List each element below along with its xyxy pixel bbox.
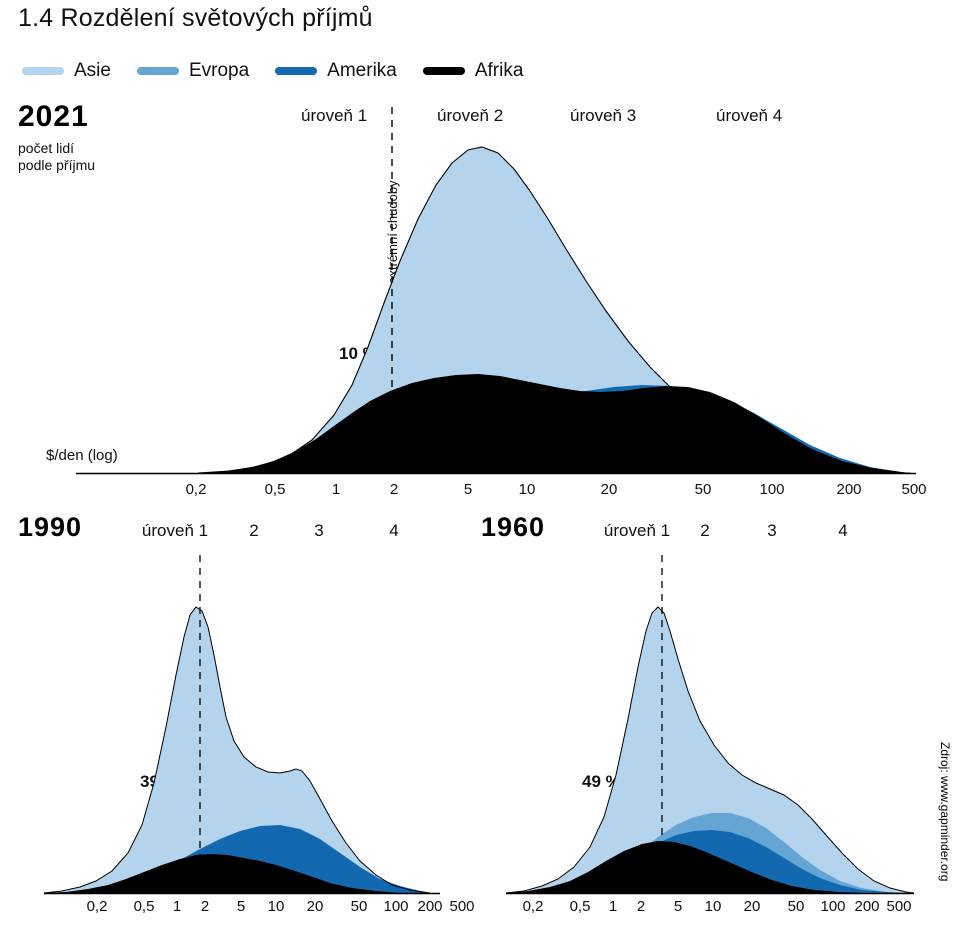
chart-1960-tick-7: 50: [788, 898, 805, 915]
chart-1990-tick-4: 5: [237, 898, 245, 915]
legend: Asie Evropa Amerika Afrika: [22, 60, 549, 82]
main-tick-9: 200: [836, 481, 861, 498]
main-tick-10: 500: [901, 481, 926, 498]
chart-1960-level-1: úroveň 1: [604, 521, 670, 541]
main-tick-1: 0,5: [265, 481, 286, 498]
legend-swatch-asie: [22, 67, 64, 75]
main-tick-0: 0,2: [186, 481, 207, 498]
chart-1990-tick-10: 500: [449, 898, 474, 915]
chart-1990-level-2: 2: [249, 521, 258, 541]
chart-1960-level-2: 2: [700, 521, 709, 541]
source-label: Zdroj: www.gapminder.org: [938, 742, 952, 881]
main-tick-5: 10: [519, 481, 536, 498]
chart-1960-level-4: 4: [838, 521, 847, 541]
chart-1960-tick-2: 1: [609, 898, 617, 915]
chart-1990-tick-5: 10: [268, 898, 285, 915]
chart-1990-tick-2: 1: [173, 898, 181, 915]
legend-label-afrika: Afrika: [475, 60, 524, 82]
chart-1960-tick-0: 0,2: [523, 898, 544, 915]
chart-1990-tick-3: 2: [201, 898, 209, 915]
legend-swatch-evropa: [137, 67, 179, 75]
page-title: 1.4 Rozdělení světových příjmů: [18, 4, 373, 33]
legend-label-asie: Asie: [74, 60, 111, 82]
main-tick-3: 2: [390, 481, 398, 498]
chart-1960-year: 1960: [481, 512, 545, 543]
legend-item-amerika: Amerika: [275, 60, 397, 82]
chart-1990-tick-9: 200: [417, 898, 442, 915]
chart-1990-tick-1: 0,5: [134, 898, 155, 915]
chart-1960-level-3: 3: [767, 521, 776, 541]
chart-1990-tick-8: 100: [383, 898, 408, 915]
main-tick-6: 20: [601, 481, 618, 498]
main-tick-2: 1: [332, 481, 340, 498]
chart-1960-tick-3: 2: [637, 898, 645, 915]
chart-1960-tick-6: 20: [744, 898, 761, 915]
chart-1960-tick-4: 5: [674, 898, 682, 915]
chart-1960-tick-8: 100: [820, 898, 845, 915]
legend-label-evropa: Evropa: [189, 60, 249, 82]
chart-1990-level-3: 3: [314, 521, 323, 541]
legend-swatch-afrika: [423, 67, 465, 75]
chart-1960-tick-10: 500: [886, 898, 911, 915]
chart-1960-tick-9: 200: [854, 898, 879, 915]
chart-1960: [462, 555, 932, 895]
legend-label-amerika: Amerika: [327, 60, 397, 82]
legend-item-evropa: Evropa: [137, 60, 249, 82]
chart-1990-tick-6: 20: [307, 898, 324, 915]
chart-2021: [0, 95, 980, 495]
chart-1990: [0, 555, 470, 895]
chart-1960-tick-1: 0,5: [570, 898, 591, 915]
chart-1990-level-4: 4: [389, 521, 398, 541]
chart-1990-level-1: úroveň 1: [142, 521, 208, 541]
legend-item-afrika: Afrika: [423, 60, 524, 82]
main-tick-4: 5: [464, 481, 472, 498]
chart-1990-year: 1990: [18, 512, 82, 543]
main-tick-8: 100: [759, 481, 784, 498]
legend-item-asie: Asie: [22, 60, 111, 82]
legend-swatch-amerika: [275, 67, 317, 75]
chart-1990-tick-7: 50: [351, 898, 368, 915]
main-tick-7: 50: [695, 481, 712, 498]
area-afrika-2021: [198, 374, 910, 473]
chart-1960-tick-5: 10: [705, 898, 722, 915]
source-wrap: Zdroj: www.gapminder.org: [952, 742, 968, 902]
chart-1990-tick-0: 0,2: [87, 898, 108, 915]
